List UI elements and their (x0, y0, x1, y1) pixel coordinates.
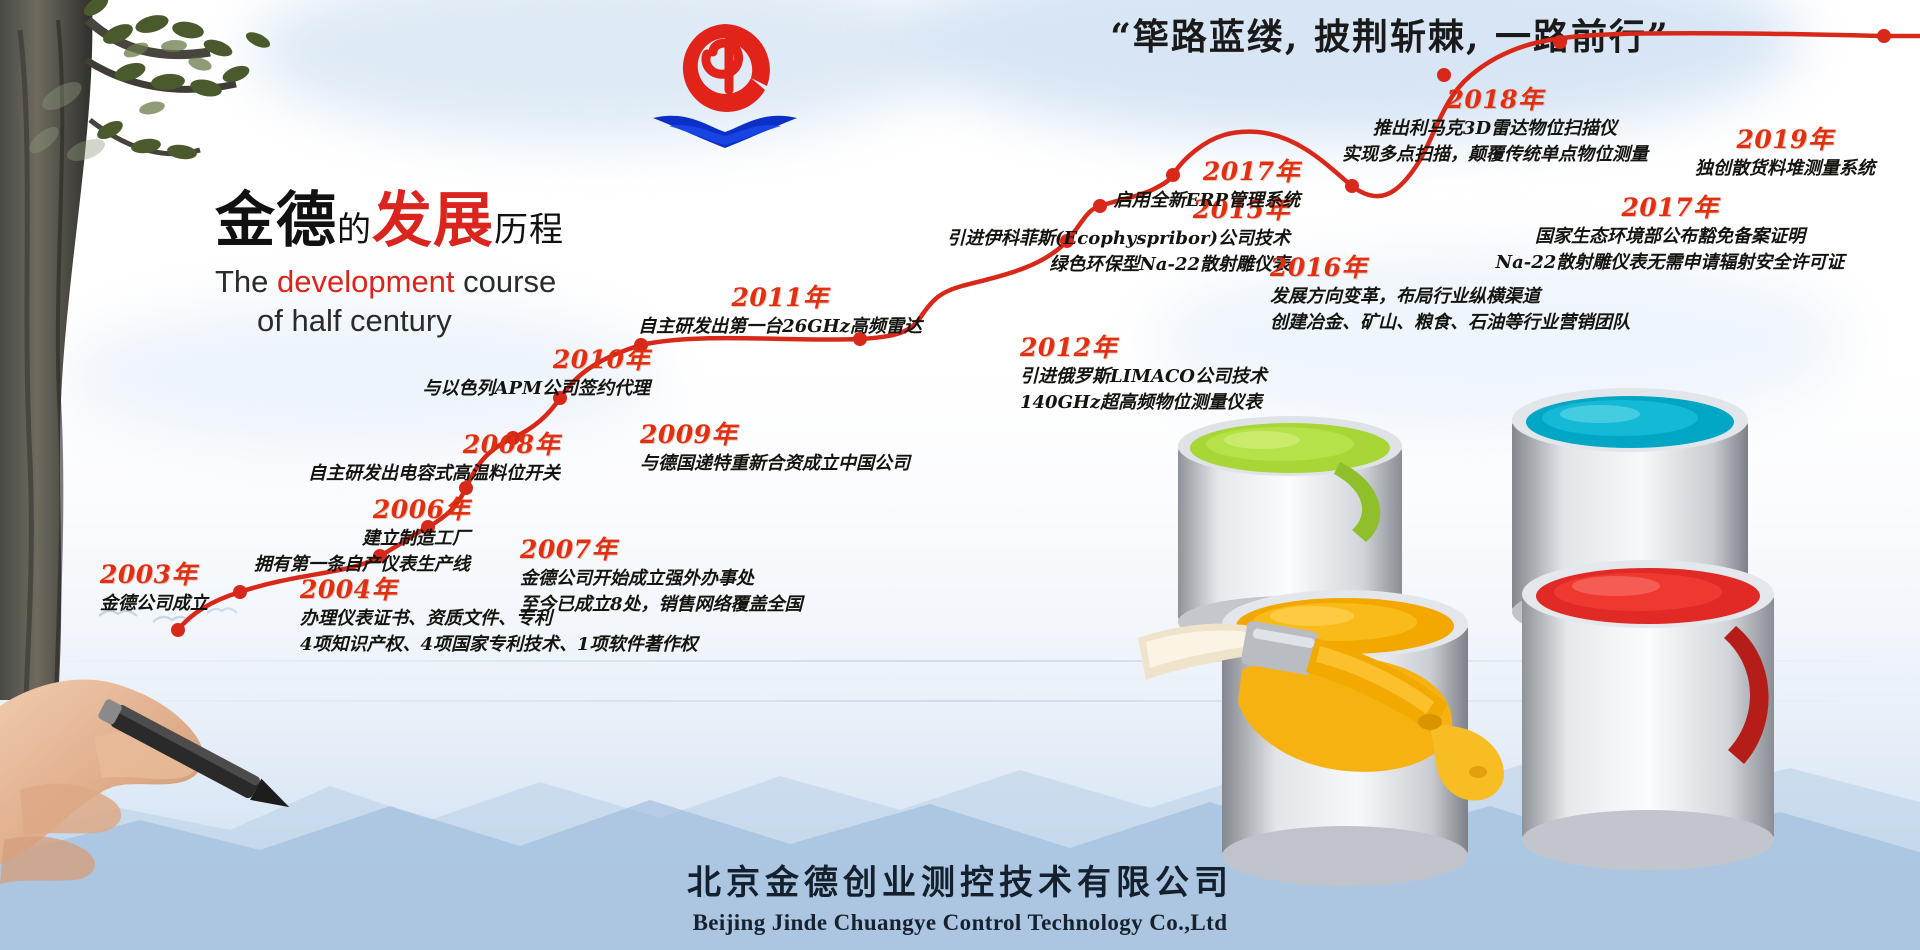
paint-brush (1138, 620, 1448, 732)
milestone-2012: 2012年 引进俄罗斯LIMACO公司技术 140GHz超高频物位测量仪表 (1020, 328, 1267, 416)
milestone-line: 自主研发出电容式高温料位开关 (0, 461, 560, 487)
milestone-2010: 2010年 与以色列APM公司签约代理 (0, 340, 650, 402)
milestone-year: 2008年 (0, 425, 560, 461)
milestone-2019: 2019年 独创散货料堆测量系统 (1620, 120, 1920, 182)
milestone-line: 独创散货料堆测量系统 (1620, 156, 1920, 182)
milestone-line: 与德国递特重新合资成立中国公司 (640, 451, 910, 477)
milestone-line: 建立制造工厂 (0, 526, 470, 552)
footer-company: 北京金德创业测控技术有限公司 Beijing Jinde Chuangye Co… (0, 855, 1920, 936)
milestone-line: 140GHz超高频物位测量仪表 (1020, 390, 1267, 416)
slogan-text: “筚路蓝缕, 披荆斩棘, 一路前行” (960, 8, 1820, 60)
haze-band (0, 660, 1920, 662)
milestone-2007: 2007年 金德公司开始成立强外办事处 至今已成立8处，销售网络覆盖全国 (520, 530, 803, 618)
poster-canvas: “筚路蓝缕, 披荆斩棘, 一路前行” 金德的发展历程 The developme… (0, 0, 1920, 950)
milestone-line: 创建冶金、矿山、粮食、石油等行业营销团队 (1270, 310, 1630, 336)
milestone-line: 发展方向变革，布局行业纵横渠道 (1270, 284, 1630, 310)
haze-band (0, 700, 1920, 702)
milestone-2008: 2008年 自主研发出电容式高温料位开关 (0, 425, 560, 487)
milestone-line: Na-22散射雕仪表无需申请辐射安全许可证 (1390, 250, 1920, 276)
headline-cn-4: 历程 (494, 210, 564, 250)
headline-cn-3: 发展 (372, 186, 494, 256)
headline-en-1c: course (455, 264, 557, 299)
paint-can-red (1522, 560, 1774, 870)
milestone-2009: 2009年 与德国递特重新合资成立中国公司 (640, 415, 910, 477)
company-name-en: Beijing Jinde Chuangye Control Technolog… (0, 910, 1920, 936)
cloud-wash (250, 0, 950, 140)
milestone-2017-cert: 2017年 国家生态环境部公布豁免备案证明 Na-22散射雕仪表无需申请辐射安全… (1390, 188, 1920, 276)
milestone-line: 与以色列APM公司签约代理 (0, 376, 650, 402)
milestone-year: 2007年 (520, 530, 803, 566)
headline-cn-1: 金德 (215, 186, 337, 256)
milestone-line: 4项知识产权、4项国家专利技术、1项软件著作权 (300, 632, 698, 658)
milestone-year: 2019年 (1620, 120, 1920, 156)
paint-can-teal (1512, 388, 1748, 640)
company-name-cn: 北京金德创业测控技术有限公司 (0, 855, 1920, 904)
milestone-2011: 2011年 自主研发出第一台26GHz高频雷达 (570, 278, 990, 340)
headline-cn-2: 的 (337, 210, 372, 250)
milestone-year: 2009年 (640, 415, 910, 451)
milestone-line: 国家生态环境部公布豁免备案证明 (1390, 224, 1920, 250)
milestone-line: 金德公司开始成立强外办事处 (520, 566, 803, 592)
paint-can-green (1178, 416, 1402, 648)
headline-en-1a: The (215, 264, 277, 299)
milestone-line: 金德公司成立 (100, 591, 208, 617)
headline-en-1b: development (277, 264, 455, 299)
milestone-year: 2018年 (1230, 80, 1760, 116)
jinde-logo (635, 14, 815, 154)
milestone-line: 自主研发出第一台26GHz高频雷达 (570, 314, 990, 340)
milestone-year: 2017年 (1390, 188, 1920, 224)
headline-chinese: 金德的发展历程 (215, 190, 735, 253)
milestone-line: 绿色环保型Na-22散射雕仪表 (700, 252, 1290, 278)
milestone-line: 引进俄罗斯LIMACO公司技术 (1020, 364, 1267, 390)
milestone-line: 拥有第一条自产仪表生产线 (0, 552, 470, 578)
paint-can-yellow (1222, 590, 1504, 886)
milestone-2006: 2006年 建立制造工厂 拥有第一条自产仪表生产线 (0, 490, 470, 578)
milestone-line: 引进伊科菲斯(Ecophyspribor)公司技术 (700, 226, 1290, 252)
milestone-year: 2012年 (1020, 328, 1267, 364)
milestone-year: 2006年 (0, 490, 470, 526)
milestone-year: 2011年 (570, 278, 990, 314)
milestone-line: 启用全新ERP管理系统 (900, 188, 1300, 214)
milestone-year: 2010年 (0, 340, 650, 376)
milestone-line: 至今已成立8处，销售网络覆盖全国 (520, 592, 803, 618)
